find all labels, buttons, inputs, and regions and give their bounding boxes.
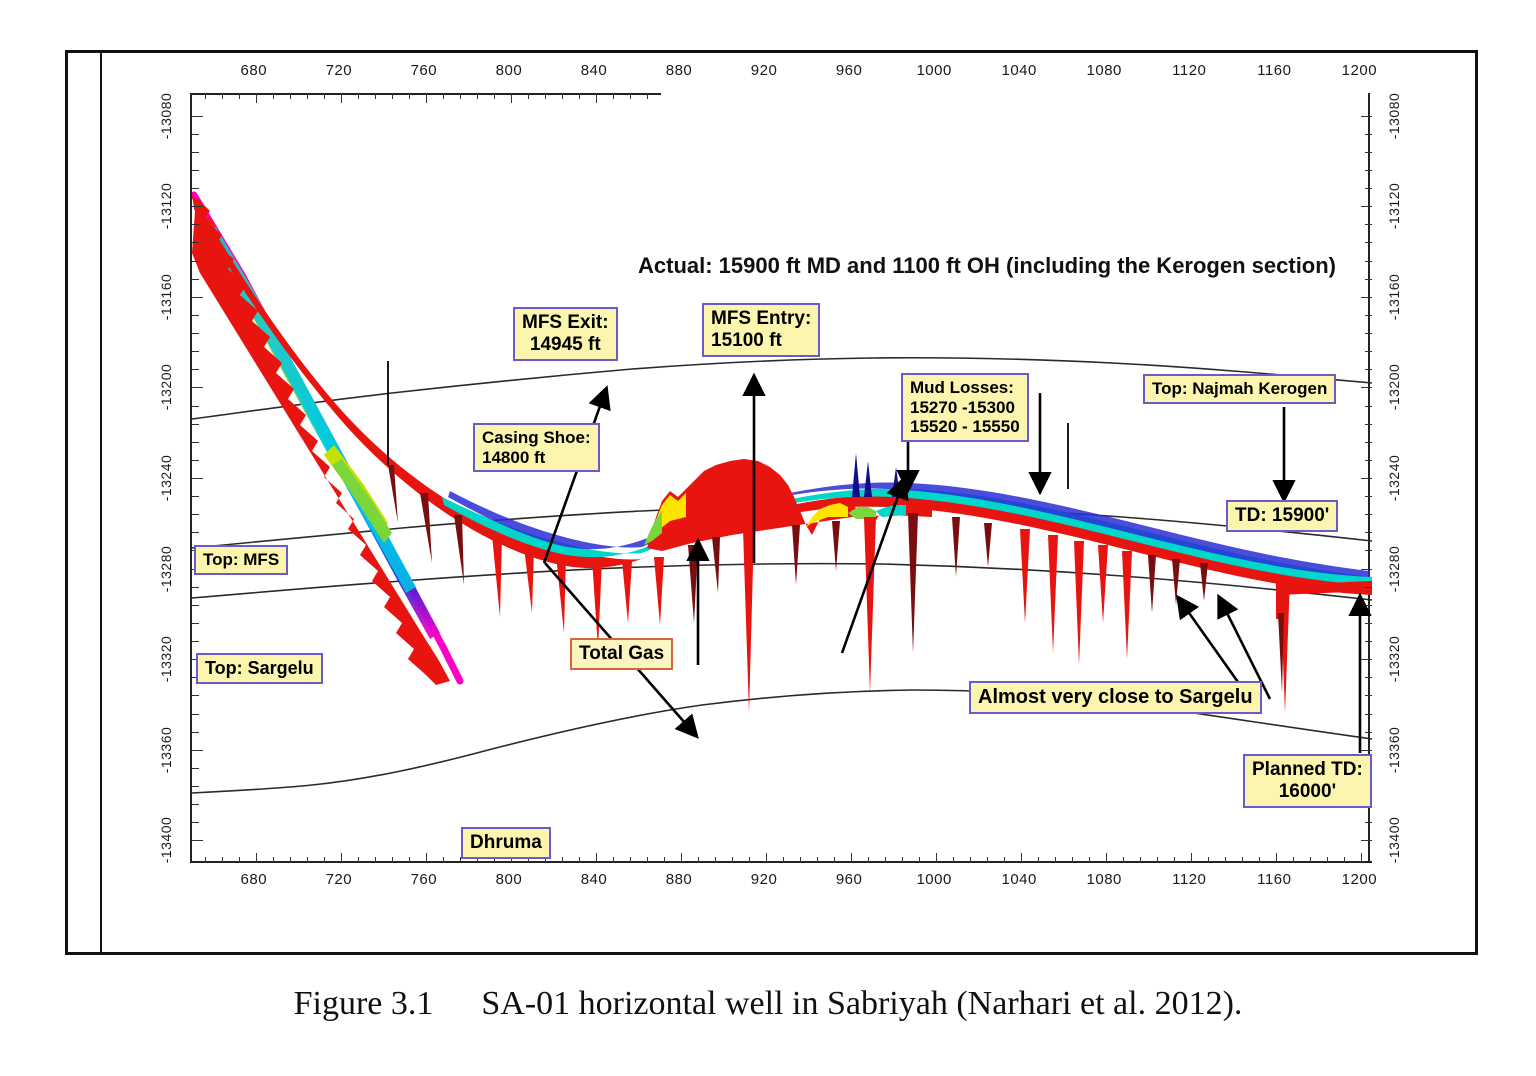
top-tick — [528, 93, 529, 99]
bottom-tick — [341, 853, 342, 863]
bottom-tick — [579, 857, 580, 863]
bottom-tick — [885, 857, 886, 863]
label-casing-shoe-line1: Casing Shoe: — [482, 428, 591, 447]
label-planned-td-line1: Planned TD: — [1252, 759, 1363, 780]
right-tick — [1365, 677, 1372, 678]
right-tick-label: -13360 — [1386, 726, 1402, 773]
bottom-tick-label: 1200 — [1342, 871, 1377, 888]
top-tick-label: 840 — [581, 62, 608, 79]
top-tick — [494, 93, 495, 99]
top-tick — [256, 93, 257, 103]
left-tick — [192, 605, 199, 606]
top-tick-label: 1080 — [1087, 62, 1122, 79]
right-tick — [1361, 840, 1372, 841]
right-tick — [1365, 822, 1372, 823]
left-tick — [192, 714, 199, 715]
top-tick-label: 1000 — [916, 62, 951, 79]
top-tick-label: 880 — [666, 62, 693, 79]
right-tick — [1365, 424, 1372, 425]
top-tick — [477, 93, 478, 99]
bottom-tick-label: 1080 — [1087, 871, 1122, 888]
label-td: TD: 15900' — [1226, 500, 1338, 532]
left-tick — [192, 315, 199, 316]
bottom-tick — [766, 853, 767, 863]
right-tick — [1365, 351, 1372, 352]
right-tick-label: -13080 — [1386, 92, 1402, 139]
left-tick — [192, 116, 203, 117]
left-tick — [192, 424, 199, 425]
bottom-tick — [1123, 857, 1124, 863]
left-tick — [192, 587, 199, 588]
label-mfs-entry-line2: 15100 ft — [711, 330, 811, 352]
bottom-tick — [1327, 857, 1328, 863]
bottom-tick — [1293, 857, 1294, 863]
right-tick — [1361, 387, 1372, 388]
label-mfs-entry-line1: MFS Entry: — [711, 308, 811, 329]
right-tick — [1365, 442, 1372, 443]
left-tick — [192, 188, 199, 189]
label-mud-losses: Mud Losses: 15270 -15300 15520 - 15550 — [901, 373, 1029, 442]
bottom-tick-label: 1120 — [1172, 871, 1206, 888]
bottom-tick — [426, 853, 427, 863]
left-tick-label: -13160 — [158, 274, 174, 321]
top-tick — [613, 93, 614, 99]
right-tick-label: -13280 — [1386, 545, 1402, 592]
left-tick — [192, 152, 199, 153]
top-tick — [460, 93, 461, 99]
right-tick — [1365, 605, 1372, 606]
bottom-tick — [715, 857, 716, 863]
bottom-tick — [664, 857, 665, 863]
top-tick-label: 760 — [411, 62, 438, 79]
bottom-tick — [936, 853, 937, 863]
right-tick — [1365, 641, 1372, 642]
bottom-tick — [1225, 857, 1226, 863]
top-tick — [222, 93, 223, 99]
bottom-tick-label: 920 — [751, 871, 778, 888]
bottom-tick — [783, 857, 784, 863]
bottom-tick — [358, 857, 359, 863]
right-tick — [1365, 242, 1372, 243]
bottom-tick-label: 1000 — [916, 871, 951, 888]
top-tick — [596, 93, 597, 103]
bottom-tick-label: 680 — [241, 871, 268, 888]
bottom-tick-label: 880 — [666, 871, 693, 888]
bottom-tick — [256, 853, 257, 863]
bottom-tick — [273, 857, 274, 863]
right-tick — [1365, 732, 1372, 733]
bottom-tick — [800, 857, 801, 863]
right-tick — [1365, 188, 1372, 189]
right-tick-label: -13200 — [1386, 364, 1402, 411]
left-tick — [192, 206, 203, 207]
bottom-tick — [817, 857, 818, 863]
top-tick — [443, 93, 444, 99]
bottom-tick-label: 1160 — [1257, 871, 1291, 888]
well-cross-section-plot — [190, 93, 1370, 863]
bottom-tick — [1055, 857, 1056, 863]
document-frame-inner-rule — [100, 50, 102, 955]
bottom-tick — [1004, 857, 1005, 863]
bottom-tick-label: 720 — [326, 871, 353, 888]
bottom-tick — [409, 857, 410, 863]
right-tick — [1361, 478, 1372, 479]
top-tick — [375, 93, 376, 99]
bottom-tick — [987, 857, 988, 863]
label-mfs-exit-line2: 14945 ft — [522, 334, 609, 356]
left-tick — [192, 333, 199, 334]
top-tick-label: 1040 — [1002, 62, 1037, 79]
label-top-sargelu: Top: Sargelu — [196, 653, 323, 684]
right-tick — [1365, 333, 1372, 334]
label-top-mfs: Top: MFS — [194, 545, 288, 575]
left-tick — [192, 623, 199, 624]
bottom-tick — [1259, 857, 1260, 863]
top-tick — [392, 93, 393, 99]
right-tick-label: -13240 — [1386, 455, 1402, 502]
top-tick — [426, 93, 427, 103]
bottom-tick — [1089, 857, 1090, 863]
left-tick — [192, 297, 203, 298]
left-tick-label: -13280 — [158, 545, 174, 592]
label-casing-shoe: Casing Shoe: 14800 ft — [473, 423, 600, 472]
bottom-tick — [851, 853, 852, 863]
top-tick-label: 960 — [836, 62, 863, 79]
right-tick — [1361, 116, 1372, 117]
left-tick — [192, 261, 199, 262]
bottom-tick — [1361, 853, 1362, 863]
bottom-tick — [868, 857, 869, 863]
top-tick — [647, 93, 648, 99]
left-tick-label: -13200 — [158, 364, 174, 411]
right-tick — [1361, 750, 1372, 751]
right-tick — [1365, 406, 1372, 407]
figure-number: Figure 3.1 — [294, 985, 434, 1022]
bottom-tick — [647, 857, 648, 863]
left-tick — [192, 460, 199, 461]
left-tick — [192, 768, 199, 769]
right-tick — [1365, 550, 1372, 551]
right-tick-label: -13120 — [1386, 183, 1402, 230]
bottom-tick — [596, 853, 597, 863]
right-tick — [1365, 695, 1372, 696]
left-tick — [192, 170, 199, 171]
bottom-tick — [222, 857, 223, 863]
top-tick — [239, 93, 240, 99]
left-tick — [192, 496, 199, 497]
right-tick — [1361, 659, 1372, 660]
left-tick — [192, 279, 199, 280]
cross-section-graphics — [192, 93, 1372, 863]
bottom-tick-label: 800 — [496, 871, 523, 888]
bottom-tick-label: 1040 — [1002, 871, 1037, 888]
bottom-tick — [1174, 857, 1175, 863]
label-mfs-exit-line1: MFS Exit: — [522, 312, 609, 333]
label-top-najmah-kerogen: Top: Najmah Kerogen — [1143, 374, 1336, 404]
top-tick-label: 1200 — [1342, 62, 1377, 79]
figure-caption-text: SA-01 horizontal well in Sabriyah (Narha… — [481, 985, 1242, 1022]
bottom-tick — [392, 857, 393, 863]
bottom-tick — [1106, 853, 1107, 863]
left-tick — [192, 134, 199, 135]
bottom-tick — [732, 857, 733, 863]
right-tick-label: -13320 — [1386, 636, 1402, 683]
left-tick — [192, 387, 203, 388]
left-tick — [192, 478, 203, 479]
left-tick — [192, 641, 199, 642]
right-tick — [1365, 279, 1372, 280]
bottom-tick — [324, 857, 325, 863]
bottom-tick-label: 760 — [411, 871, 438, 888]
top-tick-label: 680 — [241, 62, 268, 79]
right-tick — [1365, 714, 1372, 715]
left-tick — [192, 224, 199, 225]
right-tick — [1365, 261, 1372, 262]
label-planned-td-line2: 16000' — [1252, 781, 1363, 803]
bottom-tick — [205, 857, 206, 863]
bottom-tick — [970, 857, 971, 863]
label-mfs-entry: MFS Entry: 15100 ft — [702, 303, 820, 357]
right-tick — [1365, 224, 1372, 225]
bottom-tick — [1344, 857, 1345, 863]
figure-page: 6807207608008408809209601000104010801120… — [0, 0, 1536, 1076]
top-tick-label: 920 — [751, 62, 778, 79]
right-tick — [1365, 315, 1372, 316]
label-casing-shoe-line2: 14800 ft — [482, 448, 591, 468]
label-dhruma: Dhruma — [461, 827, 551, 859]
right-tick — [1365, 170, 1372, 171]
label-mud-losses-line2: 15270 -15300 — [910, 398, 1020, 418]
top-tick-label: 800 — [496, 62, 523, 79]
right-tick — [1365, 496, 1372, 497]
left-tick-label: -13320 — [158, 636, 174, 683]
right-tick-label: -13160 — [1386, 274, 1402, 321]
top-tick — [324, 93, 325, 99]
label-mud-losses-line1: Mud Losses: — [910, 378, 1014, 397]
right-tick-label: -13400 — [1386, 817, 1402, 864]
top-tick — [307, 93, 308, 99]
right-tick — [1361, 206, 1372, 207]
bottom-tick — [749, 857, 750, 863]
left-tick — [192, 750, 203, 751]
left-tick — [192, 804, 199, 805]
left-tick-label: -13080 — [158, 92, 174, 139]
bottom-tick — [953, 857, 954, 863]
bottom-tick — [1021, 853, 1022, 863]
right-tick — [1365, 369, 1372, 370]
bottom-tick — [1140, 857, 1141, 863]
bottom-tick — [1242, 857, 1243, 863]
arrow-mfs-exit — [544, 395, 604, 563]
bottom-tick — [290, 857, 291, 863]
top-tick — [358, 93, 359, 99]
label-planned-td: Planned TD: 16000' — [1243, 754, 1372, 808]
top-tick — [630, 93, 631, 99]
bottom-tick-label: 960 — [836, 871, 863, 888]
bottom-tick — [1072, 857, 1073, 863]
left-tick — [192, 406, 199, 407]
left-tick — [192, 351, 199, 352]
right-tick — [1365, 460, 1372, 461]
left-tick — [192, 822, 199, 823]
bottom-tick — [443, 857, 444, 863]
left-tick-label: -13120 — [158, 183, 174, 230]
left-tick — [192, 242, 199, 243]
label-mfs-exit: MFS Exit: 14945 ft — [513, 307, 618, 361]
left-tick — [192, 786, 199, 787]
top-tick — [205, 93, 206, 99]
left-tick — [192, 695, 199, 696]
left-tick-label: -13400 — [158, 817, 174, 864]
right-tick — [1365, 152, 1372, 153]
bottom-tick — [630, 857, 631, 863]
bottom-tick — [698, 857, 699, 863]
right-tick — [1365, 587, 1372, 588]
top-tick — [341, 93, 342, 103]
top-tick — [273, 93, 274, 99]
left-tick — [192, 732, 199, 733]
bottom-tick — [1310, 857, 1311, 863]
bottom-tick — [613, 857, 614, 863]
right-tick — [1365, 532, 1372, 533]
label-total-gas: Total Gas — [570, 638, 673, 670]
label-close-to-sargelu: Almost very close to Sargelu — [969, 681, 1262, 714]
bottom-tick — [919, 857, 920, 863]
top-tick-label: 1120 — [1172, 62, 1206, 79]
left-tick — [192, 532, 199, 533]
actual-md-oh-note: Actual: 15900 ft MD and 1100 ft OH (incl… — [638, 253, 1336, 279]
left-tick — [192, 369, 199, 370]
bottom-tick — [834, 857, 835, 863]
right-tick — [1365, 134, 1372, 135]
top-tick — [545, 93, 546, 99]
top-tick — [579, 93, 580, 99]
right-tick — [1365, 514, 1372, 515]
bottom-tick — [239, 857, 240, 863]
right-tick — [1365, 623, 1372, 624]
top-tick — [409, 93, 410, 99]
label-mud-losses-line3: 15520 - 15550 — [910, 417, 1020, 437]
top-tick-label: 720 — [326, 62, 353, 79]
top-tick — [562, 93, 563, 99]
left-tick-label: -13360 — [158, 726, 174, 773]
bottom-tick — [307, 857, 308, 863]
top-tick-label: 1160 — [1257, 62, 1291, 79]
bottom-tick — [681, 853, 682, 863]
top-tick — [290, 93, 291, 99]
bottom-tick — [375, 857, 376, 863]
bottom-axis-line — [192, 861, 1372, 863]
bottom-tick-label: 840 — [581, 871, 608, 888]
left-tick — [192, 514, 199, 515]
left-tick-label: -13240 — [158, 455, 174, 502]
left-tick — [192, 840, 203, 841]
bottom-tick — [1191, 853, 1192, 863]
figure-caption: Figure 3.1SA-01 horizontal well in Sabri… — [0, 985, 1536, 1023]
bottom-tick — [902, 857, 903, 863]
horizon-top-sargelu — [192, 564, 1372, 600]
left-tick — [192, 442, 199, 443]
top-tick — [511, 93, 512, 103]
bottom-tick — [1038, 857, 1039, 863]
well-conditions-heading: Well Conditions: — [712, 231, 912, 236]
right-tick — [1361, 297, 1372, 298]
bottom-tick — [1157, 857, 1158, 863]
bottom-tick — [562, 857, 563, 863]
right-tick — [1361, 569, 1372, 570]
bottom-tick — [1276, 853, 1277, 863]
bottom-tick — [1208, 857, 1209, 863]
